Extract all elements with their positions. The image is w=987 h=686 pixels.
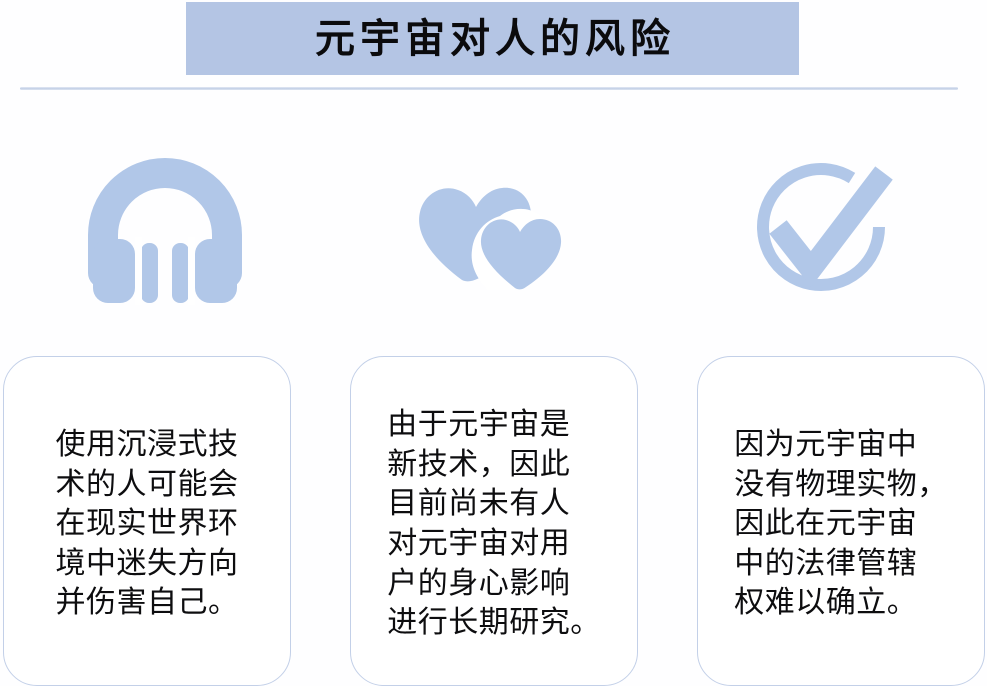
info-card-1: 使用沉浸式技 术的人可能会 在现实世界环 境中迷失方向 并伤害自己。: [3, 356, 291, 686]
info-card-2: 由于元宇宙是 新技术，因此 目前尚未有人 对元宇宙对用 户的身心影响 进行长期研…: [350, 356, 638, 686]
card-text-1: 使用沉浸式技 术的人可能会 在现实世界环 境中迷失方向 并伤害自己。: [44, 425, 251, 623]
card-text-3: 因为元宇宙中 没有物理实物， 因此在元宇宙 中的法律管辖 权难以确立。: [722, 425, 960, 623]
info-card-3: 因为元宇宙中 没有物理实物， 因此在元宇宙 中的法律管辖 权难以确立。: [697, 356, 985, 686]
card-text-2: 由于元宇宙是 新技术，因此 目前尚未有人 对元宇宙对用 户的身心影响 进行长期研…: [375, 405, 613, 643]
card-row: 使用沉浸式技 术的人可能会 在现实世界环 境中迷失方向 并伤害自己。 由于元宇宙…: [0, 0, 987, 686]
